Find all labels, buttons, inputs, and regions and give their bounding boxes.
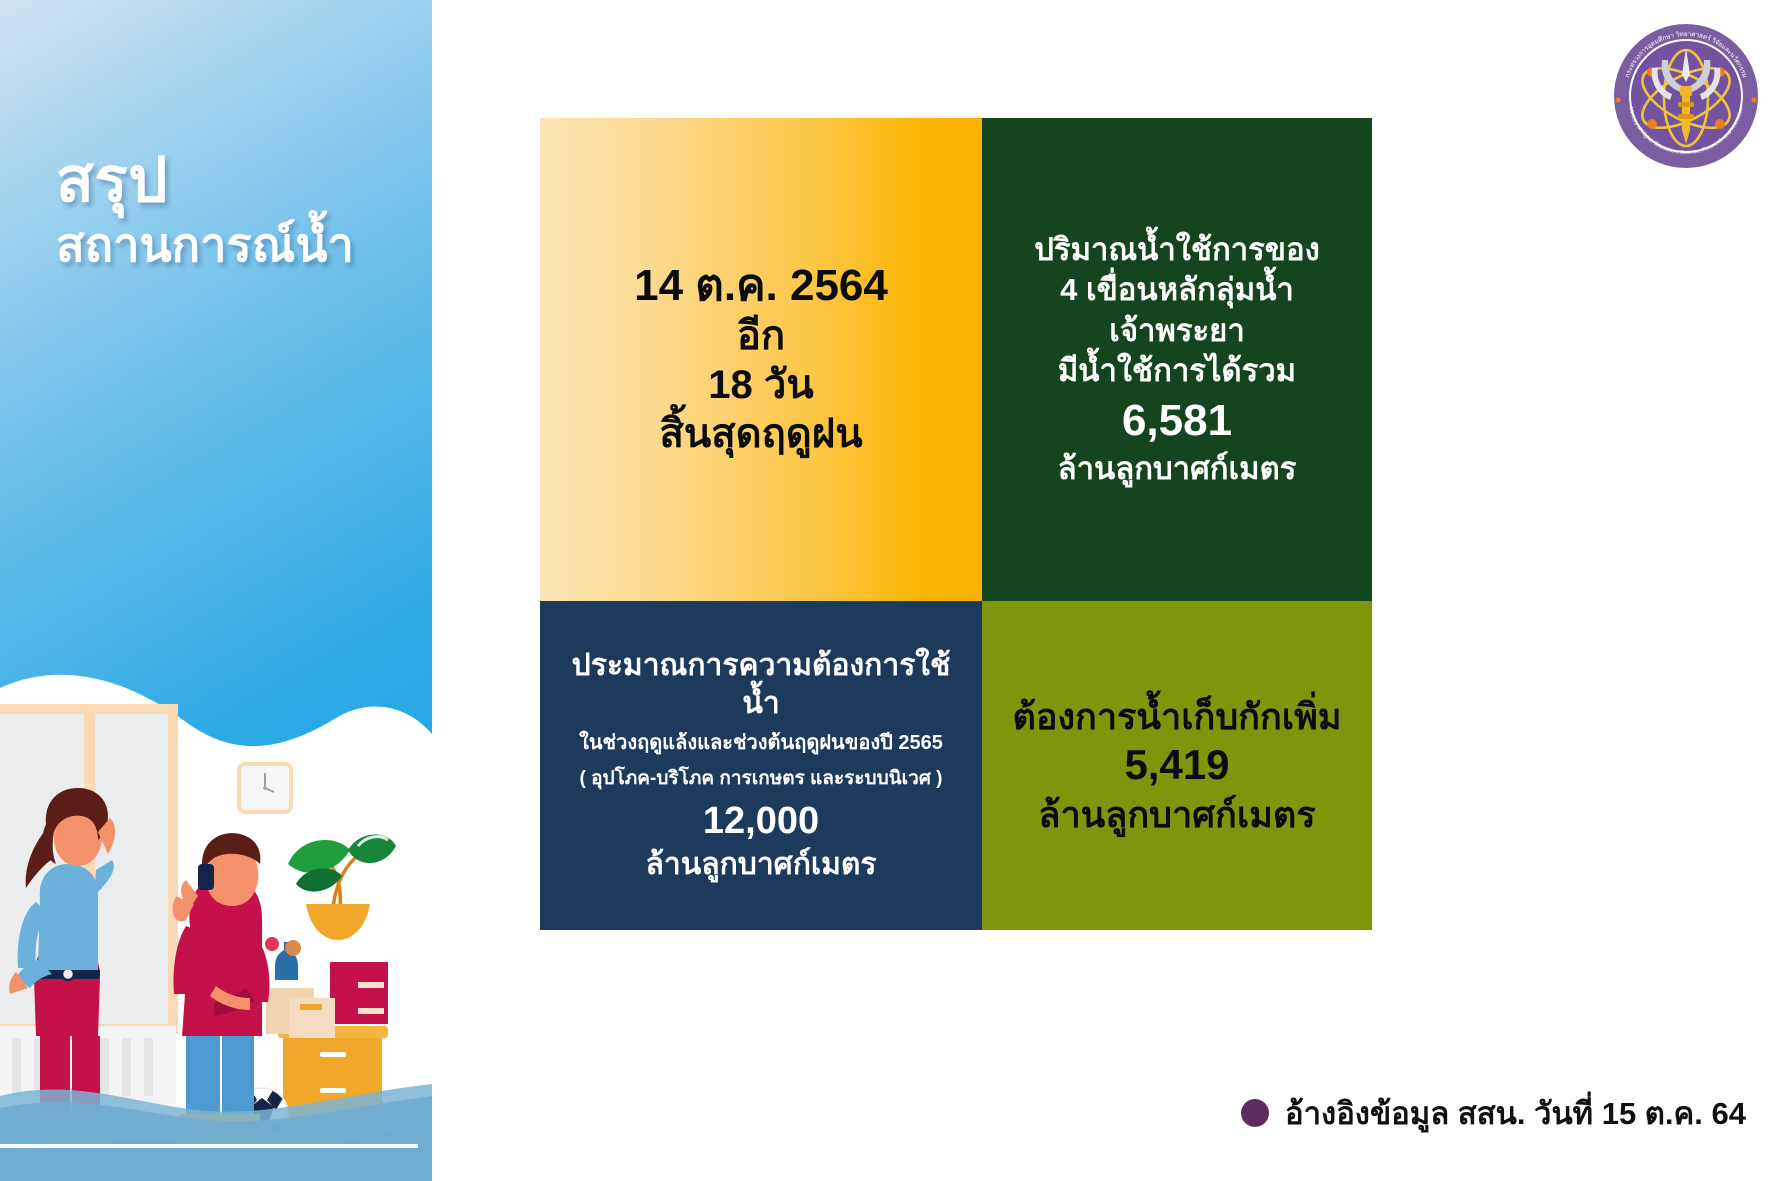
page-title-line1: สรุป [56,148,432,214]
quadrant-additional-storage: ต้องการน้ำเก็บกักเพิ่ม 5,419 ล้านลูกบาศก… [982,601,1372,930]
left-title-panel: สรุป สถานการณ์น้ำ [0,0,432,1181]
storage-value: 5,419 [1124,739,1229,792]
supply-unit: ล้านลูกบาศก์เมตร [1058,449,1297,489]
countdown-date: 14 ต.ค. 2564 [634,260,888,312]
countdown-caption: สิ้นสุดฤดูฝน [659,410,862,459]
infographic-canvas: สรุป สถานการณ์น้ำ [0,0,1772,1181]
demand-heading: ประมาณการความต้องการใช้น้ำ [554,647,968,724]
countdown-prefix: อีก [737,312,785,361]
demand-unit: ล้านลูกบาศก์เมตร [645,846,876,884]
demand-sectors: ( อุปโภค-บริโภค การเกษตร และระบบนิเวศ ) [580,765,943,793]
source-footer: อ้างอิงข้อมูล สสน. วันที่ 15 ต.ค. 64 [1030,1088,1746,1138]
supply-line-2: 4 เขื่อนหลักลุ่มน้ำเจ้าพระยา [996,270,1358,351]
demand-period: ในช่วงฤดูแล้งและช่วงต้นฤดูฝนของปี 2565 [579,729,943,758]
storage-unit: ล้านลูกบาศก์เมตร [1038,792,1315,837]
storage-heading: ต้องการน้ำเก็บกักเพิ่ม [1012,694,1341,739]
supply-line-3: มีน้ำใช้การได้รวม [1058,351,1296,391]
supply-value: 6,581 [1122,393,1232,448]
ministry-logo: กระทรวงการอุดมศึกษา วิทยาศาสตร์ วิจัยและ… [1602,12,1770,180]
source-text: อ้างอิงข้อมูล สสน. วันที่ 15 ต.ค. 64 [1285,1088,1746,1138]
quadrant-water-demand: ประมาณการความต้องการใช้น้ำ ในช่วงฤดูแล้ง… [540,601,982,930]
countdown-days: 18 วัน [708,361,813,410]
demand-value: 12,000 [703,797,819,846]
supply-line-1: ปริมาณน้ำใช้การของ [1034,230,1319,270]
page-title: สรุป สถานการณ์น้ำ [56,148,432,270]
page-title-line2: สถานการณ์น้ำ [56,220,432,270]
flood-scene-illustration [0,596,432,1181]
quadrant-usable-water: ปริมาณน้ำใช้การของ 4 เขื่อนหลักลุ่มน้ำเจ… [982,118,1372,601]
quadrant-rainy-season-countdown: 14 ต.ค. 2564 อีก 18 วัน สิ้นสุดฤดูฝน [540,118,982,601]
bullet-icon [1241,1099,1269,1127]
stats-quadrant-grid: 14 ต.ค. 2564 อีก 18 วัน สิ้นสุดฤดูฝน ปริ… [540,118,1372,930]
